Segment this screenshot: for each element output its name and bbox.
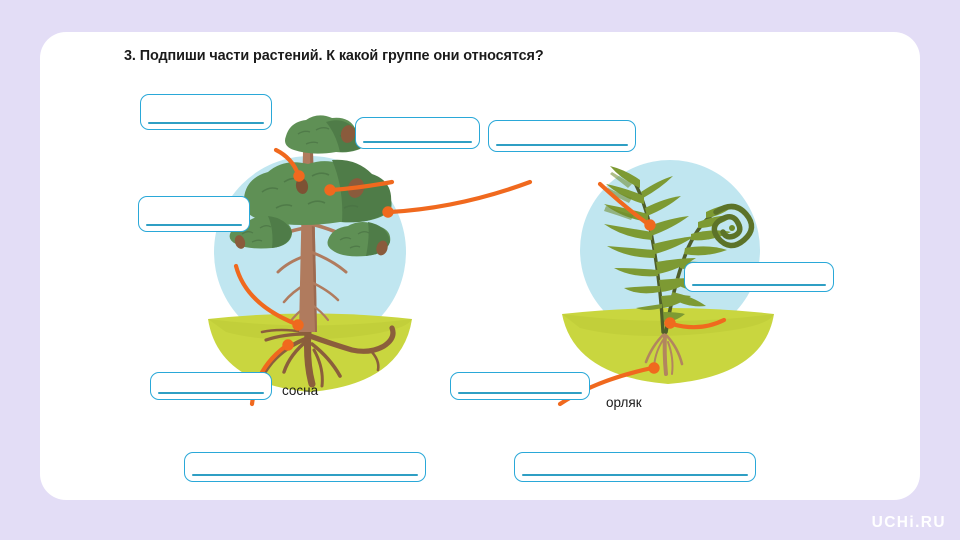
answer-text xyxy=(460,377,580,389)
write-line xyxy=(158,392,264,394)
answer-box-pine-part-1[interactable] xyxy=(140,94,272,130)
pine-cone xyxy=(375,239,390,256)
answer-text xyxy=(498,125,626,141)
answer-box-pine-part-4[interactable] xyxy=(138,196,250,232)
pine-branches xyxy=(268,192,356,322)
answer-box-pine-part-3[interactable] xyxy=(488,120,636,152)
fern-frond-main xyxy=(604,166,696,322)
fern-halo xyxy=(580,160,760,340)
write-line xyxy=(496,144,628,146)
answer-box-fern-group[interactable] xyxy=(514,452,756,482)
watermark: UCHi.RU xyxy=(872,514,946,532)
write-line xyxy=(148,122,264,124)
pine-trunk xyxy=(299,152,317,332)
fern-soil xyxy=(562,308,774,384)
answer-box-pine-root[interactable] xyxy=(150,372,272,400)
fern-roots xyxy=(646,332,682,374)
worksheet-card: 3. Подпиши части растений. К какой групп… xyxy=(40,32,920,500)
write-line xyxy=(522,474,748,476)
pine-cone xyxy=(233,234,247,250)
pine-cone xyxy=(345,176,366,200)
answer-box-fern-root[interactable] xyxy=(450,372,590,400)
fern-fiddlehead xyxy=(714,206,751,245)
answer-text xyxy=(365,122,470,138)
write-line xyxy=(692,284,826,286)
pine-trunk-shade xyxy=(310,152,317,332)
write-line xyxy=(363,141,472,143)
write-line xyxy=(146,224,242,226)
answer-text xyxy=(524,457,746,471)
answer-box-pine-part-2[interactable] xyxy=(355,117,480,149)
plant-label-fern: орляк xyxy=(606,395,642,410)
answer-text xyxy=(194,457,416,471)
answer-box-fern-part-2[interactable] xyxy=(684,262,834,292)
pine-soil-shadow xyxy=(208,319,412,340)
write-line xyxy=(458,392,582,394)
page-title: 3. Подпиши части растений. К какой групп… xyxy=(124,48,544,64)
plant-label-pine: сосна xyxy=(282,383,318,398)
answer-box-pine-group[interactable] xyxy=(184,452,426,482)
answer-text xyxy=(148,201,240,221)
worksheet-screen: 3. Подпиши части растений. К какой групп… xyxy=(0,0,960,540)
answer-text xyxy=(150,99,262,119)
pine-roots xyxy=(260,328,393,386)
answer-text xyxy=(160,377,262,389)
pointer-arrows xyxy=(236,150,724,404)
pine-cone xyxy=(295,177,310,195)
fern-stem-main xyxy=(632,178,663,332)
write-line xyxy=(192,474,418,476)
pine-halo xyxy=(214,156,406,348)
pine-canopy-right xyxy=(328,222,391,257)
pine-canopy-main xyxy=(244,160,392,225)
answer-text xyxy=(694,267,824,281)
fern-soil-shadow xyxy=(562,314,774,336)
fern-frond-serration xyxy=(604,172,634,220)
